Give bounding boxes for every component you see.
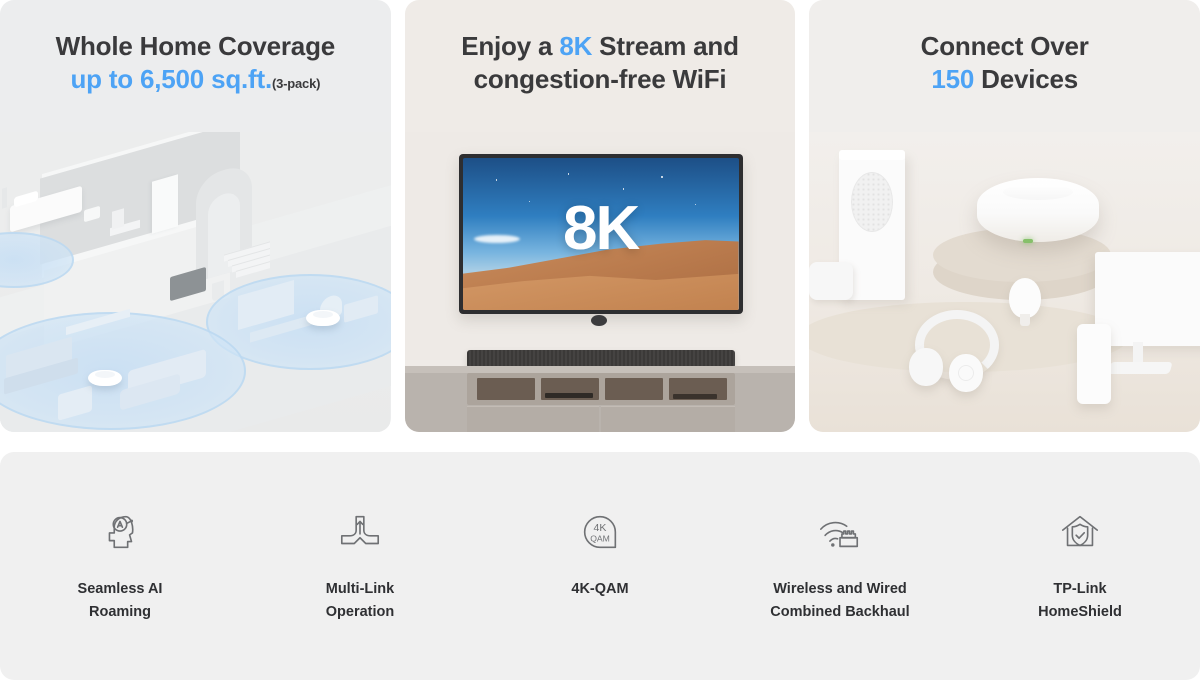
qam-badge-top: 4K: [594, 522, 607, 534]
ai-head-icon: [92, 504, 148, 560]
panel-3-title-line2: 150 Devices: [809, 63, 1200, 96]
feature-label-line2: Operation: [326, 601, 394, 624]
tv-screen: 8K: [463, 158, 739, 310]
feature-item-multi-link-operation[interactable]: Multi-Link Operation: [240, 452, 480, 624]
qam-badge-bottom: QAM: [590, 534, 610, 544]
panel-2-title-line2: congestion-free WiFi: [405, 63, 796, 96]
marketing-feature-page: Whole Home Coverage up to 6,500 sq.ft.(3…: [0, 0, 1200, 690]
panel-1-accent-text: up to 6,500 sq.ft.: [70, 64, 272, 94]
tv-mount-foot: [591, 315, 607, 326]
panel-2-title-pre: Enjoy a: [461, 31, 559, 61]
mesh-router-device: [306, 310, 340, 326]
panel-connect-devices: Connect Over 150 Devices: [809, 0, 1200, 432]
panel-1-title-line1: Whole Home Coverage: [0, 30, 391, 63]
feature-item-seamless-ai-roaming[interactable]: Seamless AI Roaming: [0, 452, 240, 624]
panel-2-title-post: Stream and: [592, 31, 739, 61]
mesh-router-device: [88, 370, 122, 386]
av-receiver-device: [545, 393, 593, 398]
multi-link-icon: [332, 504, 388, 560]
smartphone-device: [1077, 324, 1111, 404]
panel-8k-stream: Enjoy a 8K Stream and congestion-free Wi…: [405, 0, 796, 432]
panel-2-title-line1: Enjoy a 8K Stream and: [405, 30, 796, 63]
feature-highlight-bar: Seamless AI Roaming Multi-Link Operation…: [0, 452, 1200, 680]
panel-3-title-line1: Connect Over: [809, 30, 1200, 63]
game-controller-device: [809, 262, 853, 300]
feature-label-line1: Multi-Link: [326, 578, 394, 601]
panel-whole-home-coverage: Whole Home Coverage up to 6,500 sq.ft.(3…: [0, 0, 391, 432]
smart-bulb-base: [1020, 314, 1030, 326]
panel-3-heading: Connect Over 150 Devices: [809, 0, 1200, 96]
tv-room-illustration: 8K: [405, 132, 796, 432]
feature-label: 4K-QAM: [571, 578, 628, 601]
headphones-device: [909, 310, 987, 392]
mesh-router-device: [977, 178, 1099, 242]
television-device: 8K: [459, 154, 743, 314]
feature-item-homeshield[interactable]: TP-Link HomeShield: [960, 452, 1200, 624]
panel-3-accent-text: 150: [931, 64, 974, 94]
wifi-ethernet-icon: [812, 504, 868, 560]
headphone-earcup: [949, 354, 983, 392]
panel-row: Whole Home Coverage up to 6,500 sq.ft.(3…: [0, 0, 1200, 432]
panel-2-heading: Enjoy a 8K Stream and congestion-free Wi…: [405, 0, 796, 96]
monitor-device: [1095, 252, 1200, 346]
chair-furniture: [112, 208, 124, 229]
cabinet-cubby: [477, 378, 535, 400]
devices-illustration: [809, 132, 1200, 432]
feature-label-line2: Roaming: [78, 601, 163, 624]
headphone-earcup: [909, 348, 943, 386]
feature-item-combined-backhaul[interactable]: Wireless and Wired Combined Backhaul: [720, 452, 960, 624]
media-box-device: [673, 394, 717, 399]
monitor-foot: [1108, 362, 1173, 374]
feature-label-line2: HomeShield: [1038, 601, 1122, 624]
isometric-home-illustration: [0, 132, 390, 432]
qam-badge-icon: 4K QAM: [572, 504, 628, 560]
feature-label-line1: TP-Link: [1038, 578, 1122, 601]
game-console-top: [839, 150, 905, 160]
wardrobe-furniture: [152, 174, 178, 233]
panel-1-artwork: [0, 132, 391, 432]
media-console-top: [405, 366, 796, 373]
feature-label-line1: Wireless and Wired: [770, 578, 909, 601]
feature-label: Multi-Link Operation: [326, 578, 394, 624]
feature-label-line1: Seamless AI: [78, 578, 163, 601]
panel-1-heading: Whole Home Coverage up to 6,500 sq.ft.(3…: [0, 0, 391, 96]
feature-label-line2: Combined Backhaul: [770, 601, 909, 624]
feature-label: TP-Link HomeShield: [1038, 578, 1122, 624]
panel-2-artwork: 8K: [405, 132, 796, 432]
cabinet-cubby: [605, 378, 663, 400]
feature-label: Wireless and Wired Combined Backhaul: [770, 578, 909, 624]
panel-2-accent-text: 8K: [559, 31, 592, 61]
panel-1-note: (3-pack): [272, 76, 320, 91]
panel-3-title-post: Devices: [974, 64, 1078, 94]
cabinet-drawer: [601, 406, 735, 432]
feature-item-4k-qam[interactable]: 4K QAM 4K-QAM: [480, 452, 720, 601]
feature-label-line1: 4K-QAM: [571, 578, 628, 601]
router-status-led: [1023, 239, 1033, 243]
smart-bulb-device: [1009, 278, 1041, 318]
panel-1-title-line2: up to 6,500 sq.ft.(3-pack): [0, 63, 391, 96]
cabinet-drawer: [467, 406, 599, 432]
feature-label: Seamless AI Roaming: [78, 578, 163, 624]
screen-resolution-text: 8K: [463, 198, 739, 260]
panel-3-artwork: [809, 132, 1200, 432]
home-shield-icon: [1052, 504, 1108, 560]
floor-lamp: [2, 187, 7, 208]
